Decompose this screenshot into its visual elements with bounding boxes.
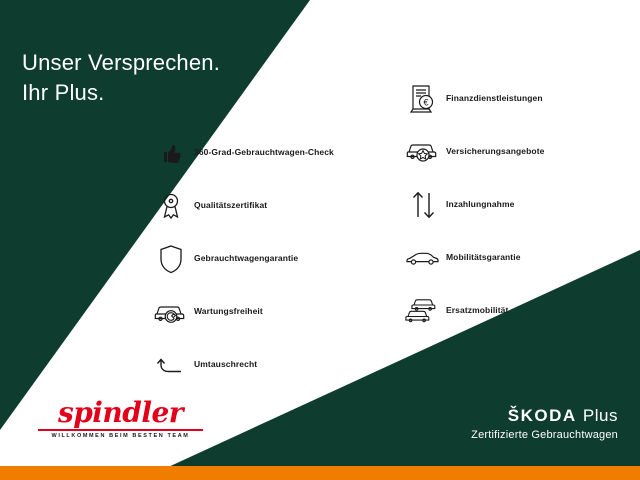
feature-label: Versicherungsangebote (446, 146, 544, 157)
car-side-icon (400, 238, 446, 278)
skoda-plus-word: Plus (583, 406, 618, 425)
return-arrow-icon (148, 345, 194, 385)
promo-banner: Unser Versprechen. Ihr Plus. 360-Grad-Ge… (0, 0, 640, 480)
shield-icon (148, 239, 194, 279)
feature-list-left: 360-Grad-Gebrauchtwagen-Check Qualitätsz… (148, 126, 378, 391)
up-down-arrows-icon (400, 185, 446, 225)
spindler-rule (38, 429, 203, 431)
feature-label: 360-Grad-Gebrauchtwagen-Check (194, 147, 334, 158)
headline: Unser Versprechen. Ihr Plus. (22, 18, 220, 138)
feature-label: Mobilitätsgarantie (446, 252, 521, 263)
two-cars-icon (400, 291, 446, 331)
feature-label: Ersatzmobilität (446, 305, 508, 316)
skoda-plus-logo: ŠKODA Plus Zertifizierte Gebrauchtwagen (471, 405, 618, 443)
feature-item: Inzahlungnahme (400, 178, 630, 231)
feature-label: Inzahlungnahme (446, 199, 514, 210)
feature-label: Umtauschrecht (194, 359, 257, 370)
headline-line-2: Ihr Plus. (22, 78, 220, 108)
skoda-logo-line: ŠKODA Plus (471, 405, 618, 427)
feature-item: Versicherungsangebote (400, 125, 630, 178)
feature-item: 360-Grad-Gebrauchtwagen-Check (148, 126, 378, 179)
spindler-tagline: WILLKOMMEN BEIM BESTEN TEAM (38, 433, 203, 439)
certificate-seal-icon (148, 186, 194, 226)
skoda-brand: ŠKODA (508, 406, 577, 425)
svg-text:€: € (423, 97, 428, 107)
feature-label: Qualitätszertifikat (194, 200, 267, 211)
car-service-icon (148, 292, 194, 332)
feature-item: Qualitätszertifikat (148, 179, 378, 232)
feature-list-right: € Finanzdienstleistungen Versicherungsan… (400, 72, 630, 337)
spindler-logo: spindler WILLKOMMEN BEIM BESTEN TEAM (38, 398, 203, 439)
feature-item: Mobilitätsgarantie (400, 231, 630, 284)
feature-item: Ersatzmobilität (400, 284, 630, 337)
orange-footer-bar (0, 466, 640, 480)
feature-label: Wartungsfreiheit (194, 306, 263, 317)
feature-label: Finanzdienstleistungen (446, 93, 543, 104)
feature-item: Wartungsfreiheit (148, 285, 378, 338)
feature-label: Gebrauchtwagengarantie (194, 253, 298, 264)
document-euro-icon: € (400, 79, 446, 119)
skoda-subtitle: Zertifizierte Gebrauchtwagen (471, 427, 618, 443)
feature-item: € Finanzdienstleistungen (400, 72, 630, 125)
car-shield-star-icon (400, 132, 446, 172)
spindler-wordmark: spindler (38, 398, 203, 428)
headline-line-1: Unser Versprechen. (22, 50, 220, 75)
thumbs-up-icon (148, 133, 194, 173)
feature-item: Umtauschrecht (148, 338, 378, 391)
feature-item: Gebrauchtwagengarantie (148, 232, 378, 285)
